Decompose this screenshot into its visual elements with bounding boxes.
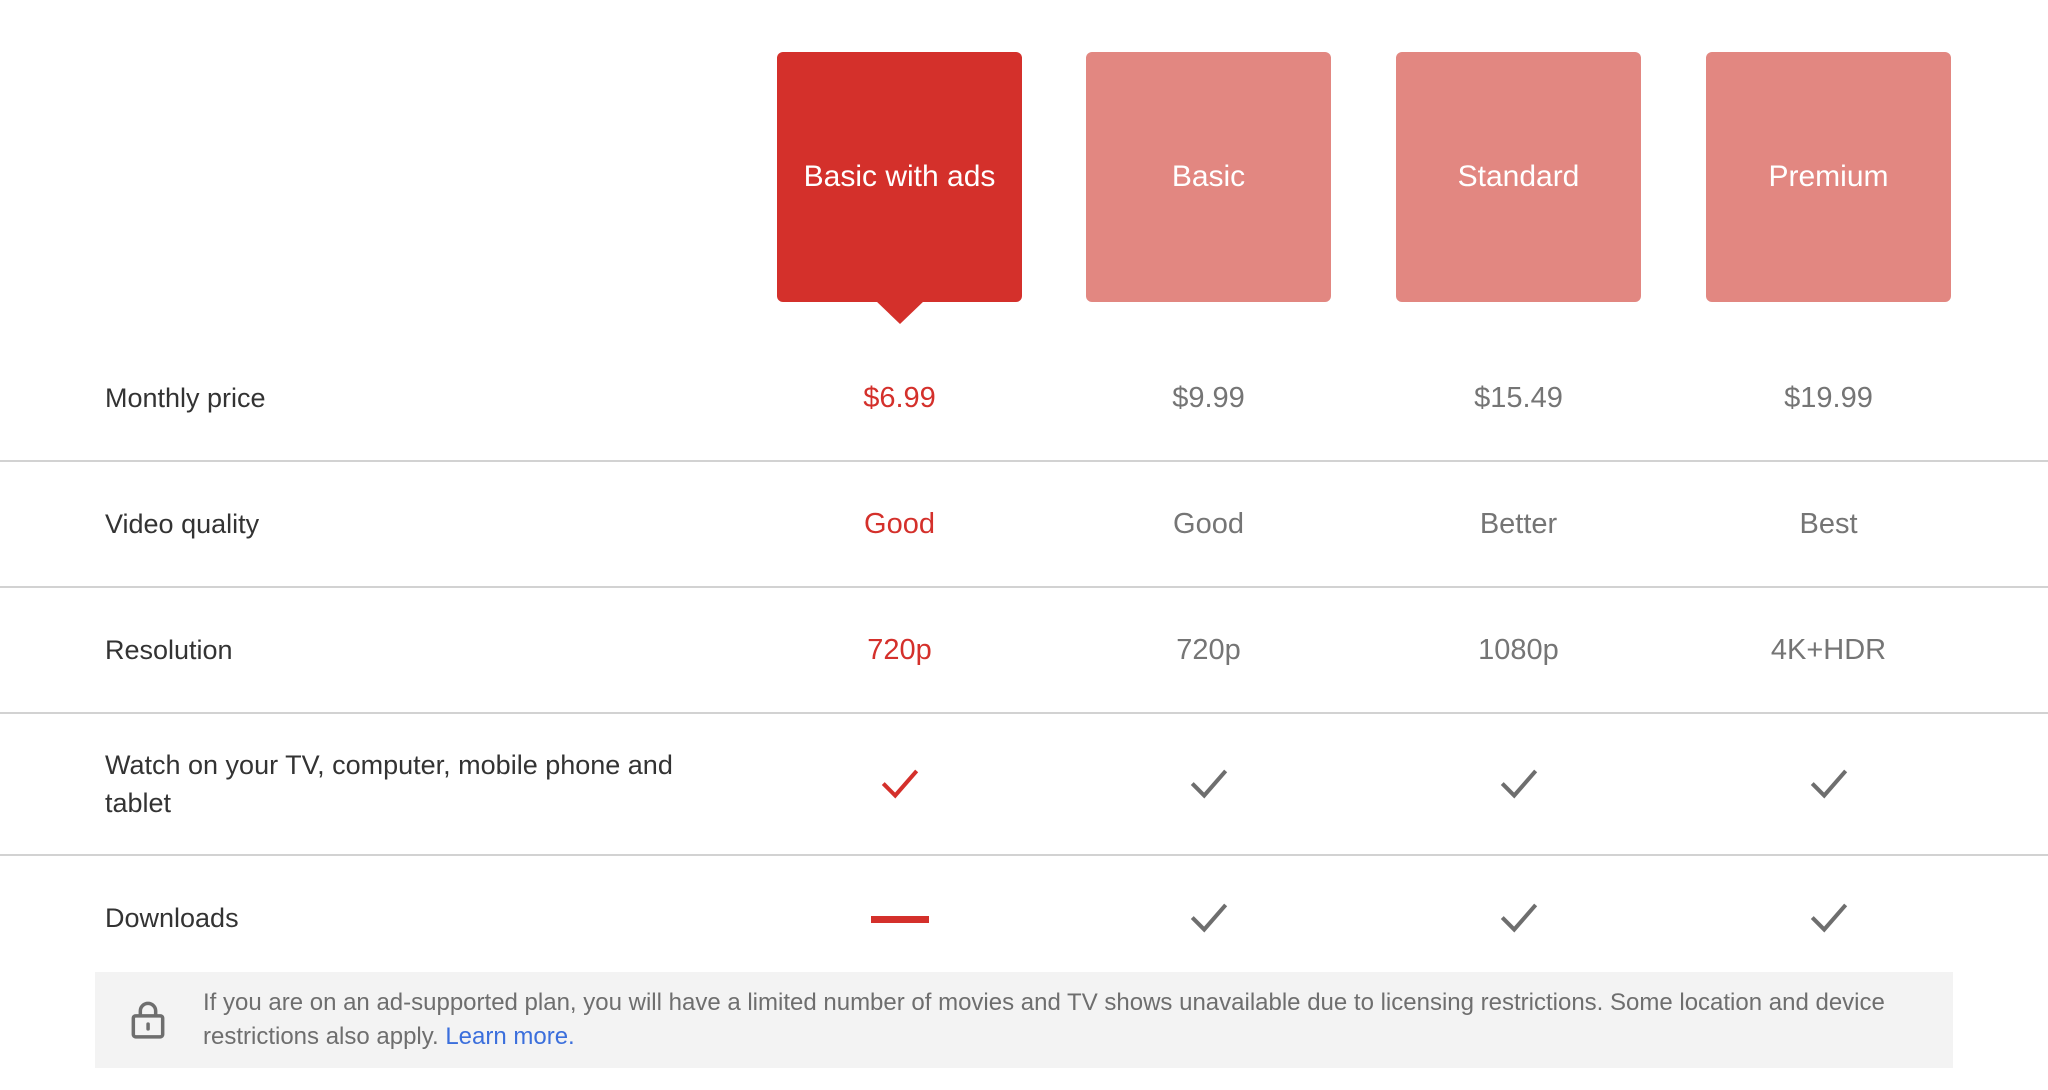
- plan-tab-label: Basic: [1104, 157, 1313, 197]
- feature-value: [1086, 895, 1331, 941]
- table-row: Video quality Good Good Better Best: [0, 460, 2048, 586]
- check-icon: [1186, 895, 1232, 941]
- feature-value: $9.99: [1086, 380, 1331, 416]
- table-row: Downloads: [0, 854, 2048, 980]
- lock-icon: [121, 993, 175, 1047]
- check-icon: [877, 761, 923, 807]
- feature-value: [1396, 895, 1641, 941]
- ad-plan-restrictions-note: If you are on an ad-supported plan, you …: [95, 972, 1953, 1068]
- plan-tab-basic-with-ads[interactable]: Basic with ads: [777, 52, 1022, 302]
- feature-value: [1706, 761, 1951, 807]
- feature-rows: Monthly price $6.99 $9.99 $15.49 $19.99 …: [0, 336, 2048, 980]
- feature-value: [1086, 761, 1331, 807]
- plan-comparison-table: Basic with ads Basic Standard Premium Mo…: [0, 0, 2048, 1090]
- plan-tab-label: Standard: [1414, 157, 1623, 197]
- feature-value: $19.99: [1706, 380, 1951, 416]
- table-row: Monthly price $6.99 $9.99 $15.49 $19.99: [0, 336, 2048, 460]
- feature-value: Good: [777, 506, 1022, 542]
- feature-value: Better: [1396, 506, 1641, 542]
- feature-value: Good: [1086, 506, 1331, 542]
- feature-value: $15.49: [1396, 380, 1641, 416]
- note-text: If you are on an ad-supported plan, you …: [203, 986, 1925, 1054]
- table-row: Resolution 720p 720p 1080p 4K+HDR: [0, 586, 2048, 712]
- feature-label: Resolution: [105, 631, 725, 669]
- feature-value: [1706, 895, 1951, 941]
- check-icon: [1496, 761, 1542, 807]
- plan-tab-premium[interactable]: Premium: [1706, 52, 1951, 302]
- plan-tab-standard[interactable]: Standard: [1396, 52, 1641, 302]
- feature-value: 720p: [1086, 632, 1331, 668]
- feature-label: Downloads: [105, 899, 725, 937]
- feature-value: 720p: [777, 632, 1022, 668]
- feature-value: [1396, 761, 1641, 807]
- feature-value: Best: [1706, 506, 1951, 542]
- feature-value: $6.99: [777, 380, 1022, 416]
- table-row: Watch on your TV, computer, mobile phone…: [0, 712, 2048, 854]
- check-icon: [1186, 761, 1232, 807]
- plan-header-row: Basic with ads Basic Standard Premium: [0, 0, 2048, 320]
- feature-label: Monthly price: [105, 379, 725, 417]
- feature-value: [777, 900, 1022, 936]
- feature-label: Video quality: [105, 505, 725, 543]
- selected-plan-pointer-icon: [875, 300, 925, 324]
- plan-tab-label: Basic with ads: [795, 157, 1004, 197]
- check-icon: [1806, 761, 1852, 807]
- check-icon: [1806, 895, 1852, 941]
- check-icon: [1496, 895, 1542, 941]
- plan-tab-label: Premium: [1724, 157, 1933, 197]
- feature-value: 4K+HDR: [1706, 632, 1951, 668]
- dash-icon: [871, 916, 929, 923]
- feature-value: 1080p: [1396, 632, 1641, 668]
- plan-tab-basic[interactable]: Basic: [1086, 52, 1331, 302]
- feature-value: [777, 761, 1022, 807]
- feature-label: Watch on your TV, computer, mobile phone…: [105, 746, 725, 822]
- learn-more-link[interactable]: Learn more.: [445, 1023, 574, 1050]
